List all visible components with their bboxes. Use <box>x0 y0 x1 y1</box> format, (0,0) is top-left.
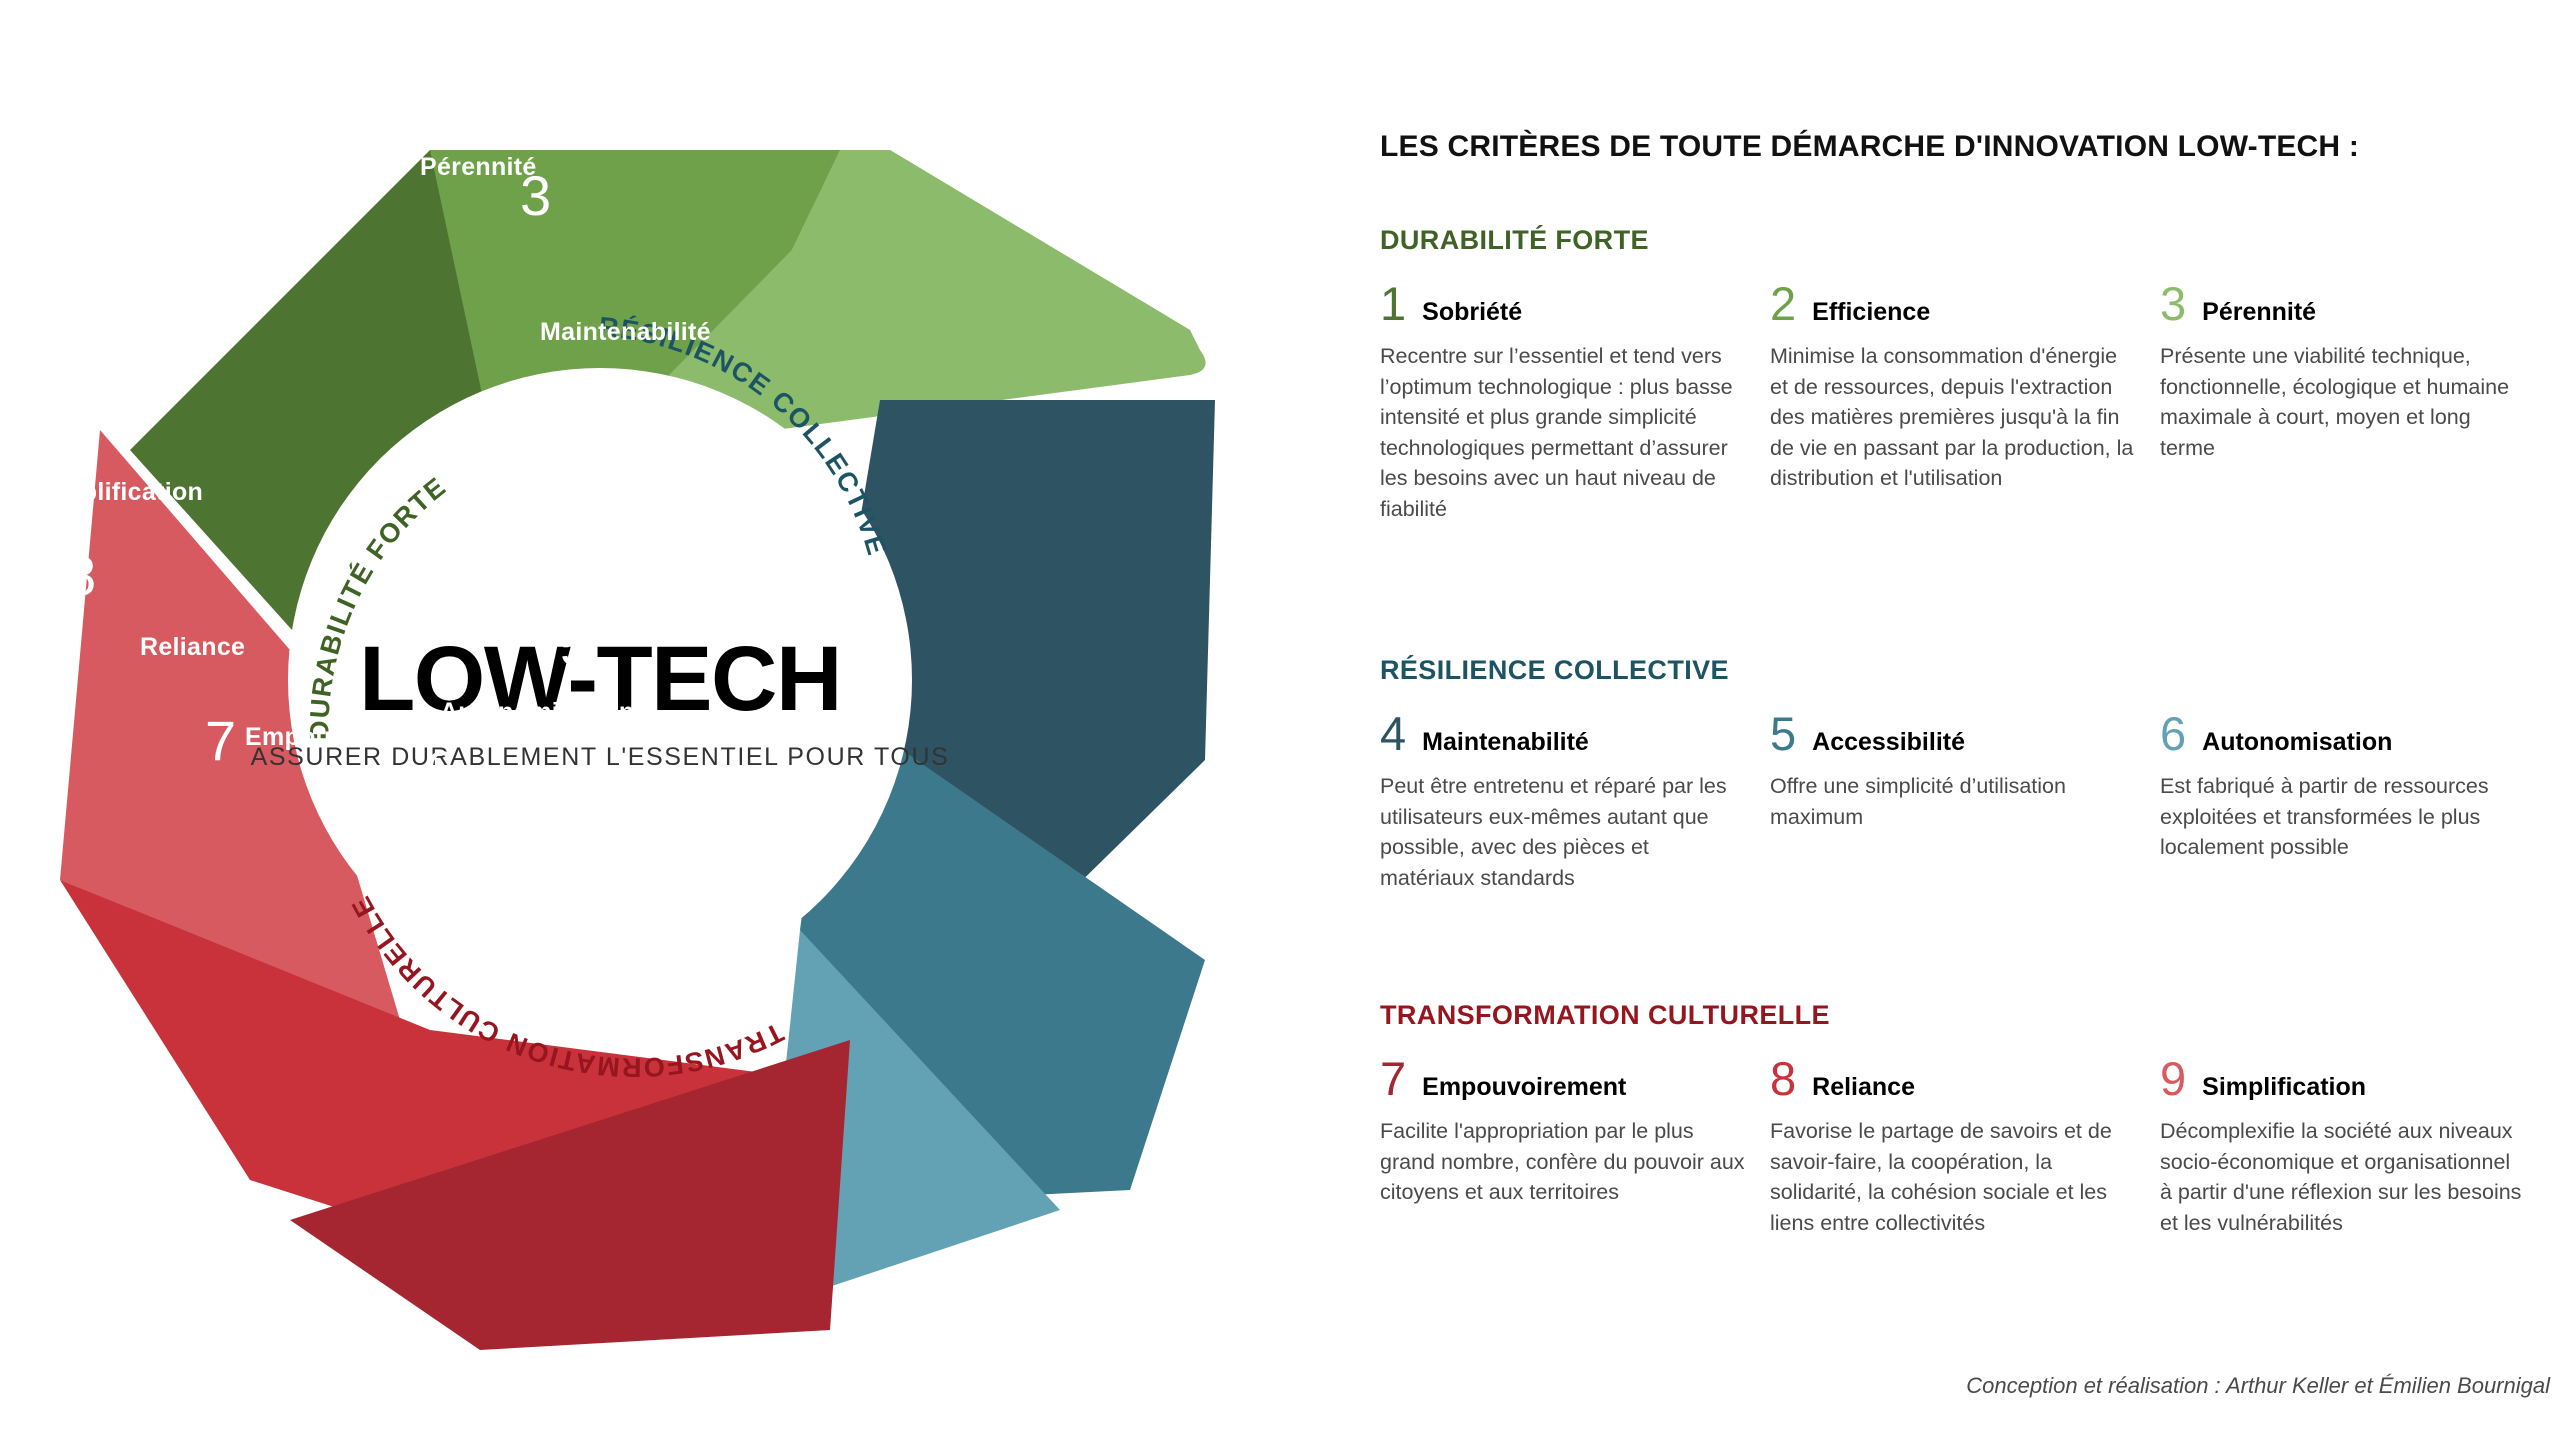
segment-number-8: 8 <box>65 544 96 607</box>
panel-title: LES CRITÈRES DE TOUTE DÉMARCHE D'INNOVAT… <box>1380 130 2359 164</box>
criterion-card[interactable]: 9 Simplification Décomplexifie la sociét… <box>2160 1059 2550 1238</box>
segment-number-9: 9 <box>45 354 76 417</box>
segment-label-accessibilite: Accessibilité <box>555 513 712 541</box>
segment-number-4: 4 <box>625 394 656 457</box>
section-heading: DURABILITÉ FORTE <box>1380 225 2560 256</box>
criterion-card[interactable]: 8 Reliance Favorise le partage de savoir… <box>1770 1059 2160 1238</box>
criterion-name: Accessibilité <box>1812 730 1965 755</box>
segment-number-5: 5 <box>560 614 591 677</box>
criterion-card[interactable]: 5 Accessibilité Offre une simplicité d’u… <box>1770 714 2160 893</box>
segment-number-2: 2 <box>375 74 406 137</box>
section-columns: 4 Maintenabilité Peut être entretenu et … <box>1380 714 2560 893</box>
criterion-description: Présente une viabilité technique, foncti… <box>2160 341 2528 463</box>
criterion-description: Minimise la consommation d'énergie et de… <box>1770 341 2138 494</box>
section-durabilite-forte: DURABILITÉ FORTE 1 Sobriété Recentre sur… <box>1380 225 2560 524</box>
criterion-description: Décomplexifie la société aux niveaux soc… <box>2160 1116 2528 1238</box>
criterion-name: Reliance <box>1812 1075 1915 1100</box>
criterion-name: Sobriété <box>1422 300 1522 325</box>
criterion-header: 6 Autonomisation <box>2160 714 2528 755</box>
criterion-number: 7 <box>1380 1059 1406 1099</box>
criterion-number: 9 <box>2160 1059 2186 1099</box>
credit-line: Conception et réalisation : Arthur Kelle… <box>1966 1373 2550 1399</box>
criterion-card[interactable]: 6 Autonomisation Est fabriqué à partir d… <box>2160 714 2550 893</box>
segment-label-maintenabilite: Maintenabilité <box>540 318 711 346</box>
segment-number-1: 1 <box>180 129 211 192</box>
segment-label-efficience: Efficience <box>250 143 371 171</box>
segment-label-simplification: Simplification <box>35 478 203 506</box>
criterion-header: 5 Accessibilité <box>1770 714 2138 755</box>
section-heading: TRANSFORMATION CULTURELLE <box>1380 1000 2560 1031</box>
criterion-header: 9 Simplification <box>2160 1059 2528 1100</box>
section-columns: 7 Empouvoirement Facilite l'appropriatio… <box>1380 1059 2560 1238</box>
wheel-svg: DURABILITÉ FORTE RÉSILIENCE COLLECTIVE T… <box>0 0 1340 1440</box>
criterion-number: 6 <box>2160 714 2186 754</box>
segment-label-sobriete: Sobriété <box>145 243 247 271</box>
criterion-header: 2 Efficience <box>1770 284 2138 325</box>
criterion-card[interactable]: 7 Empouvoirement Facilite l'appropriatio… <box>1380 1059 1770 1238</box>
criterion-header: 8 Reliance <box>1770 1059 2138 1100</box>
criterion-name: Simplification <box>2202 1075 2366 1100</box>
low-tech-wheel-diagram: DURABILITÉ FORTE RÉSILIENCE COLLECTIVE T… <box>0 0 1340 1440</box>
criterion-number: 3 <box>2160 284 2186 324</box>
criterion-card[interactable]: 2 Efficience Minimise la consommation d'… <box>1770 284 2160 524</box>
criterion-description: Favorise le partage de savoirs et de sav… <box>1770 1116 2138 1238</box>
criterion-description: Offre une simplicité d’utilisation maxim… <box>1770 771 2138 832</box>
criterion-description: Est fabriqué à partir de ressources expl… <box>2160 771 2528 863</box>
segment-number-7: 7 <box>205 709 236 772</box>
criterion-card[interactable]: 4 Maintenabilité Peut être entretenu et … <box>1380 714 1770 893</box>
infographic-root: DURABILITÉ FORTE RÉSILIENCE COLLECTIVE T… <box>0 0 2560 1440</box>
segment-label-reliance: Reliance <box>140 633 245 661</box>
section-columns: 1 Sobriété Recentre sur l’essentiel et t… <box>1380 284 2560 524</box>
criterion-description: Peut être entretenu et réparé par les ut… <box>1380 771 1748 893</box>
segment-number-3: 3 <box>520 164 551 227</box>
criterion-number: 8 <box>1770 1059 1796 1099</box>
criterion-number: 1 <box>1380 284 1406 324</box>
segment-label-empouvoirement: Empouvoirement <box>245 723 454 751</box>
criterion-number: 4 <box>1380 714 1406 754</box>
criterion-header: 1 Sobriété <box>1380 284 1748 325</box>
criterion-name: Empouvoirement <box>1422 1075 1626 1100</box>
criterion-name: Efficience <box>1812 300 1930 325</box>
section-heading: RÉSILIENCE COLLECTIVE <box>1380 655 2560 686</box>
segment-label-autonomisation: Autonomisation <box>440 698 634 726</box>
criteria-text-panel: LES CRITÈRES DE TOUTE DÉMARCHE D'INNOVAT… <box>1380 0 2560 1440</box>
criterion-header: 4 Maintenabilité <box>1380 714 1748 755</box>
criterion-name: Pérennité <box>2202 300 2316 325</box>
criterion-description: Recentre sur l’essentiel et tend vers l’… <box>1380 341 1748 524</box>
section-transformation-culturelle: TRANSFORMATION CULTURELLE 7 Empouvoireme… <box>1380 1000 2560 1238</box>
criterion-name: Maintenabilité <box>1422 730 1589 755</box>
criterion-header: 7 Empouvoirement <box>1380 1059 1748 1100</box>
section-resilience-collective: RÉSILIENCE COLLECTIVE 4 Maintenabilité P… <box>1380 655 2560 893</box>
criterion-number: 5 <box>1770 714 1796 754</box>
criterion-description: Facilite l'appropriation par le plus gra… <box>1380 1116 1748 1208</box>
criterion-number: 2 <box>1770 284 1796 324</box>
criterion-card[interactable]: 3 Pérennité Présente une viabilité techn… <box>2160 284 2550 524</box>
criterion-name: Autonomisation <box>2202 730 2392 755</box>
criterion-card[interactable]: 1 Sobriété Recentre sur l’essentiel et t… <box>1380 284 1770 524</box>
criterion-header: 3 Pérennité <box>2160 284 2528 325</box>
